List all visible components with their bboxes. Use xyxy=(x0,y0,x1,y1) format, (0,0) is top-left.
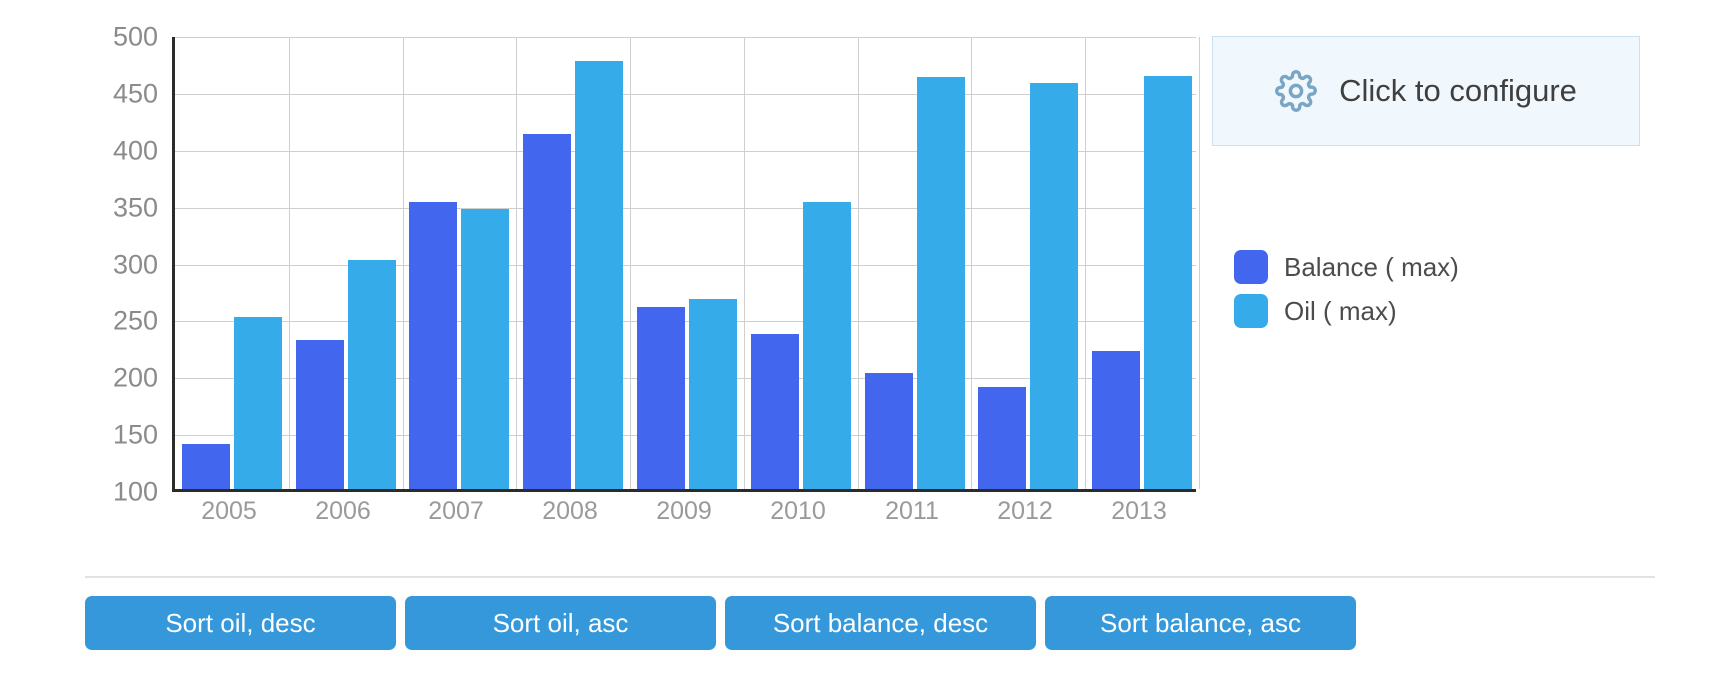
bar[interactable] xyxy=(296,340,344,489)
y-axis-tick-label: 450 xyxy=(113,78,158,109)
bar[interactable] xyxy=(689,299,737,489)
y-axis-tick-label: 300 xyxy=(113,249,158,280)
plot-area xyxy=(172,37,1196,492)
bar[interactable] xyxy=(234,317,282,489)
chart-page: 100150200250300350400450500 200520062007… xyxy=(0,0,1720,680)
legend-swatch xyxy=(1234,294,1268,328)
configure-label: Click to configure xyxy=(1339,73,1577,109)
x-axis-tick-label: 2009 xyxy=(656,497,712,526)
y-axis-tick-label: 400 xyxy=(113,135,158,166)
bar[interactable] xyxy=(865,373,913,489)
x-axis-tick-label: 2008 xyxy=(542,497,598,526)
bar[interactable] xyxy=(917,77,965,489)
x-axis-tick-label: 2005 xyxy=(201,497,257,526)
gear-icon xyxy=(1275,70,1317,112)
y-axis-tick-label: 350 xyxy=(113,192,158,223)
legend-swatch xyxy=(1234,250,1268,284)
bar[interactable] xyxy=(637,307,685,489)
gridline-vertical xyxy=(630,37,631,489)
bar[interactable] xyxy=(575,61,623,489)
chart-legend: Balance ( max)Oil ( max) xyxy=(1234,250,1459,328)
plot-canvas xyxy=(172,37,1196,492)
gridline-vertical xyxy=(1085,37,1086,489)
bar[interactable] xyxy=(409,202,457,489)
bar-chart: 100150200250300350400450500 200520062007… xyxy=(0,0,1720,578)
x-axis-tick-label: 2007 xyxy=(428,497,484,526)
sort-button-sort-balance-desc[interactable]: Sort balance, desc xyxy=(725,596,1036,650)
bar[interactable] xyxy=(751,334,799,489)
y-axis-tick-label: 500 xyxy=(113,22,158,53)
x-axis-tick-label: 2006 xyxy=(315,497,371,526)
gridline-vertical xyxy=(289,37,290,489)
bar[interactable] xyxy=(978,387,1026,489)
gridline-vertical xyxy=(1199,37,1200,489)
bar[interactable] xyxy=(1092,351,1140,489)
x-axis-labels: 200520062007200820092010201120122013 xyxy=(172,497,1196,537)
x-axis-tick-label: 2012 xyxy=(997,497,1053,526)
bar[interactable] xyxy=(803,202,851,489)
gridline-vertical xyxy=(744,37,745,489)
legend-item[interactable]: Oil ( max) xyxy=(1234,294,1459,328)
gridline-vertical xyxy=(403,37,404,489)
bar[interactable] xyxy=(1144,76,1192,489)
bar[interactable] xyxy=(348,260,396,489)
bar[interactable] xyxy=(461,209,509,489)
legend-label: Balance ( max) xyxy=(1284,252,1459,283)
legend-label: Oil ( max) xyxy=(1284,296,1397,327)
gridline-horizontal xyxy=(175,37,1196,38)
bar[interactable] xyxy=(523,134,571,489)
bar[interactable] xyxy=(182,444,230,490)
gridline-vertical xyxy=(516,37,517,489)
sort-button-bar: Sort oil, descSort oil, ascSort balance,… xyxy=(85,596,1356,650)
x-axis-tick-label: 2010 xyxy=(770,497,826,526)
configure-button[interactable]: Click to configure xyxy=(1212,36,1640,146)
gridline-vertical xyxy=(858,37,859,489)
gridline-vertical xyxy=(971,37,972,489)
legend-item[interactable]: Balance ( max) xyxy=(1234,250,1459,284)
y-axis-tick-label: 100 xyxy=(113,477,158,508)
x-axis-tick-label: 2013 xyxy=(1111,497,1167,526)
sort-button-sort-oil-asc[interactable]: Sort oil, asc xyxy=(405,596,716,650)
y-axis-labels: 100150200250300350400450500 xyxy=(0,37,172,492)
y-axis-tick-label: 250 xyxy=(113,306,158,337)
y-axis-tick-label: 200 xyxy=(113,363,158,394)
y-axis-tick-label: 150 xyxy=(113,420,158,451)
bar[interactable] xyxy=(1030,83,1078,489)
x-axis-tick-label: 2011 xyxy=(885,497,939,526)
section-divider xyxy=(85,576,1655,578)
sort-button-sort-balance-asc[interactable]: Sort balance, asc xyxy=(1045,596,1356,650)
sort-button-sort-oil-desc[interactable]: Sort oil, desc xyxy=(85,596,396,650)
